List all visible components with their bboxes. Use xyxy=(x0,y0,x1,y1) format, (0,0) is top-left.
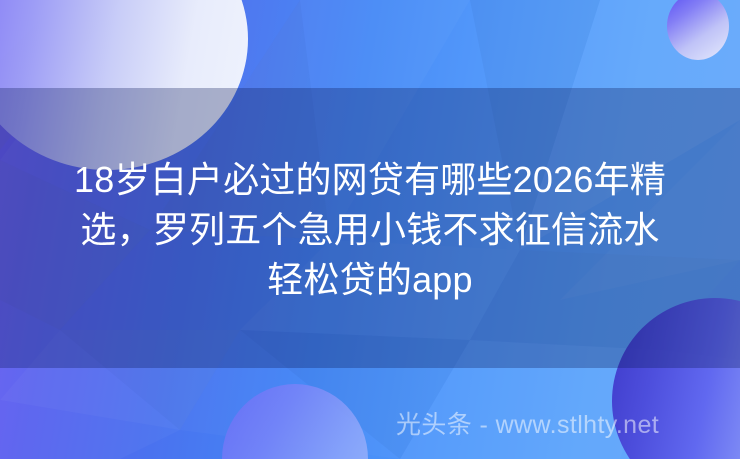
promo-banner: 18岁白户必过的网贷有哪些2026年精 选，罗列五个急用小钱不求征信流水 轻松贷… xyxy=(0,0,740,459)
title-line-1: 18岁白户必过的网贷有哪些2026年精 xyxy=(28,155,712,205)
title-line-2: 选，罗列五个急用小钱不求征信流水 xyxy=(28,205,712,255)
banner-title: 18岁白户必过的网贷有哪些2026年精 选，罗列五个急用小钱不求征信流水 轻松贷… xyxy=(0,155,740,305)
site-watermark: 光头条 - www.stlhty.net xyxy=(396,409,659,441)
title-line-3: 轻松贷的app xyxy=(28,255,712,305)
